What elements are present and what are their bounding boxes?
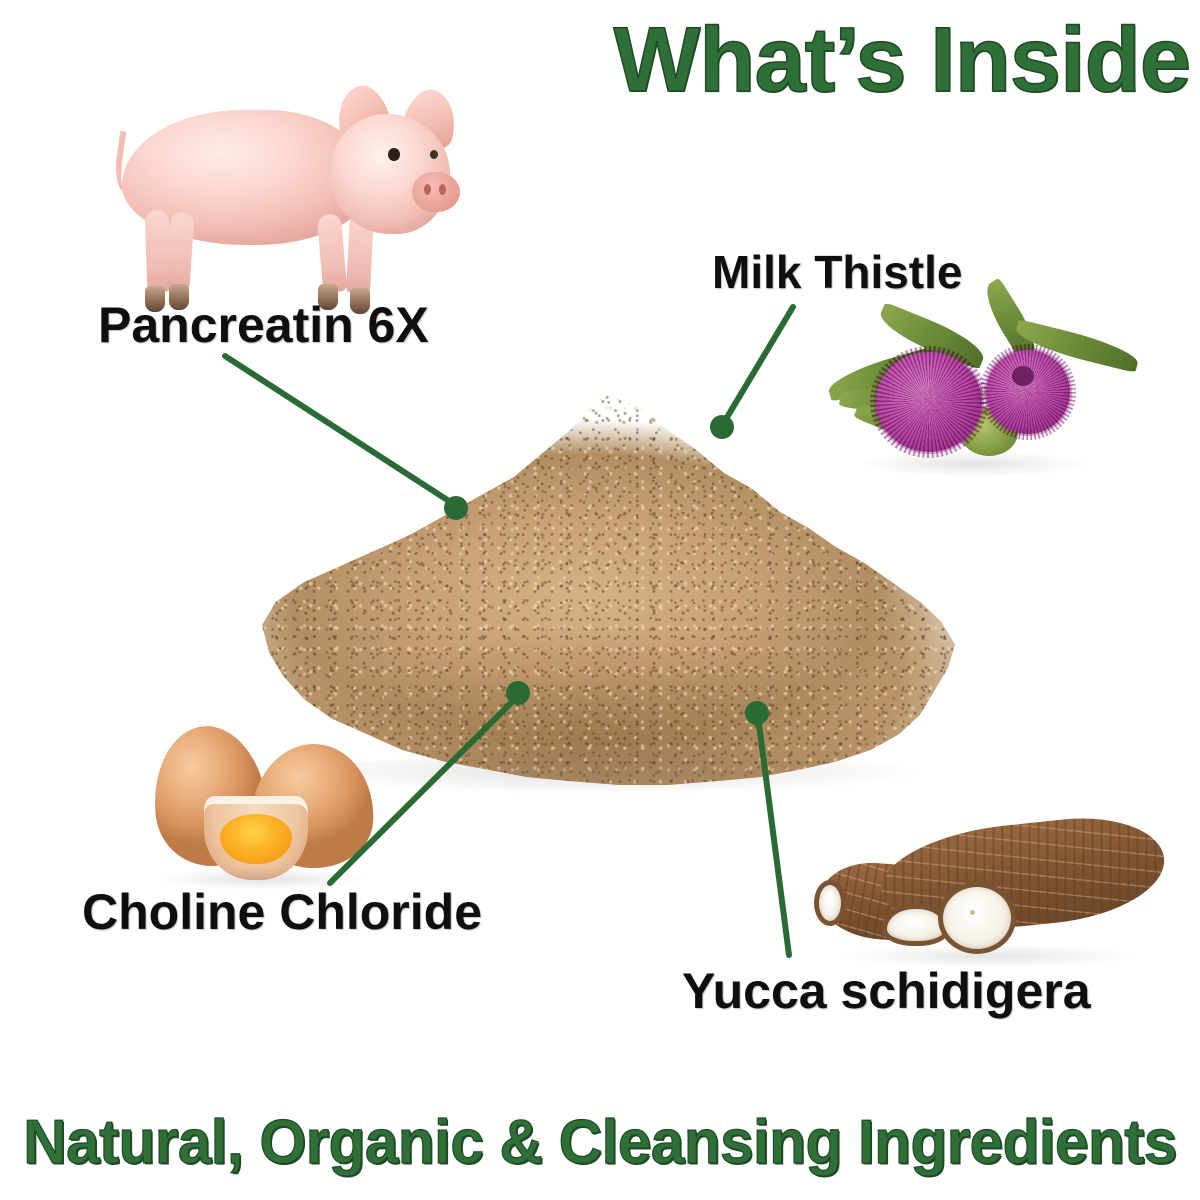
pig-nostril-left [424,184,431,195]
callout-label-pancreatin: Pancreatin 6X [98,297,429,353]
thistle-flower-small [986,350,1070,434]
egg-yolk [220,814,292,864]
pig-eye-left [388,148,400,161]
footer-tagline: Natural, Organic & Cleansing Ingredients [18,1108,1182,1178]
thistle-flower-large [876,352,982,452]
pig-nostril-right [439,184,446,195]
yucca-root-photo [820,812,1170,962]
pig-snout [412,172,460,212]
thistle-spike-texture-large [870,346,988,458]
eggs-photo [148,708,388,888]
callout-label-milk-thistle: Milk Thistle [712,246,962,298]
pig-eye-right [430,150,438,159]
yucca-slice-edge [814,880,846,926]
thistle-flower-center-hole [1012,366,1034,386]
infographic-canvas: What’s Inside [0,0,1200,1200]
page-title: What’s Inside [560,8,1190,112]
milk-thistle-photo [818,298,1178,473]
pig-back-leg-right [165,211,194,290]
thistle-spike-texture-small [980,344,1076,440]
piglet-photo [112,62,472,297]
yucca-slice-core-dot [970,910,975,915]
callout-label-choline-chloride: Choline Chloride [82,884,482,940]
callout-label-yucca-schidigera: Yucca schidigera [682,963,1091,1019]
thistle-drop-shadow [858,451,1088,477]
pig-front-leg-right [317,213,348,293]
